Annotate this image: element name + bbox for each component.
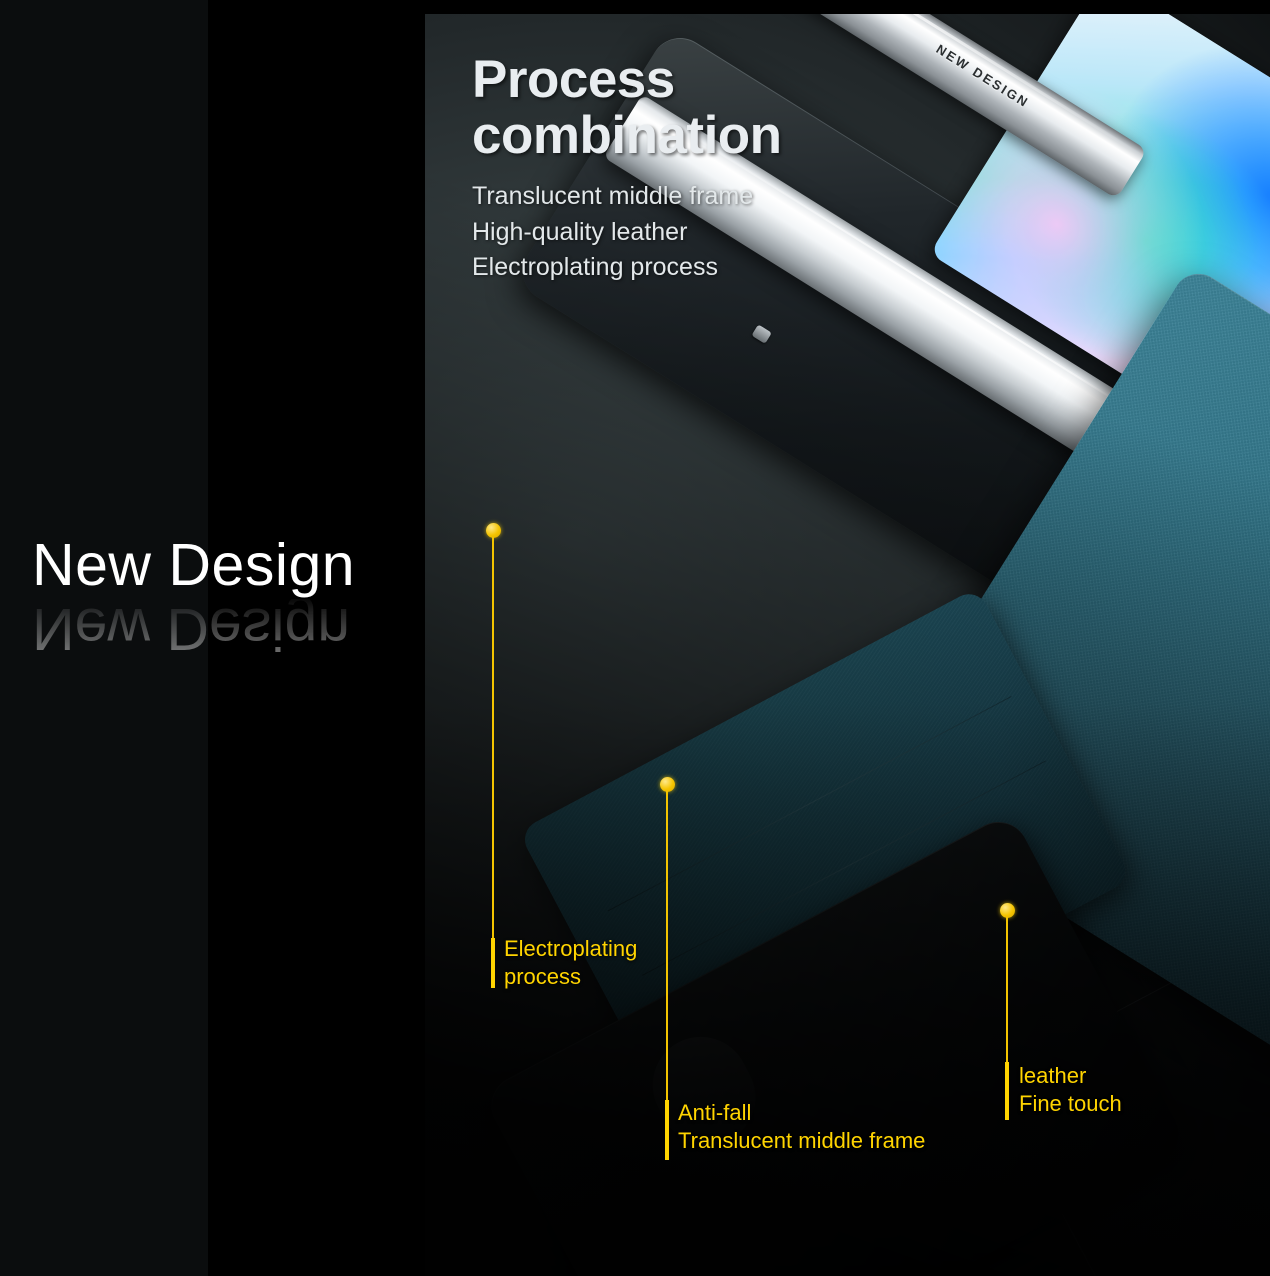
- engraved-label: NEW DESIGN: [933, 41, 1032, 110]
- subtitle-block: Translucent middle frame High-quality le…: [472, 179, 902, 286]
- callout-text: Anti-fall Translucent middle frame: [678, 1099, 925, 1155]
- callout-dot-icon: [486, 523, 501, 538]
- callout-leader-line: [1006, 917, 1008, 1063]
- callout-dot-icon: [1000, 903, 1015, 918]
- callout-text-line-1: leather: [1019, 1062, 1122, 1090]
- heading-line-1: Process: [472, 52, 902, 108]
- subtitle-line-1: Translucent middle frame: [472, 179, 902, 215]
- subtitle-line-3: Electroplating process: [472, 250, 902, 286]
- callout-leader-line: [666, 791, 668, 1111]
- callout-text-line-2: Translucent middle frame: [678, 1127, 925, 1155]
- callout-text-line-1: Electroplating: [504, 935, 637, 963]
- photo-top-border: [425, 0, 1270, 14]
- callout-dot-icon: [660, 777, 675, 792]
- brand-wordmark-block: New Design New Design: [32, 536, 432, 676]
- callout-tick-bar: [1005, 1062, 1009, 1120]
- subtitle-line-2: High-quality leather: [472, 215, 902, 251]
- brand-wordmark-reflection: New Design: [32, 599, 432, 658]
- callout-text: Electroplating process: [504, 935, 637, 991]
- product-banner: New Design New Design NEW DESIGN: [0, 0, 1270, 1276]
- callout-leader-line: [492, 537, 494, 945]
- callout-text-line-2: Fine touch: [1019, 1090, 1122, 1118]
- callout-tick-bar: [491, 938, 495, 988]
- heading-block: Process combination Translucent middle f…: [472, 52, 902, 286]
- heading-line-2: combination: [472, 108, 902, 164]
- callout-tick-bar: [665, 1100, 669, 1160]
- callout-text-line-1: Anti-fall: [678, 1099, 925, 1127]
- callout-text: leather Fine touch: [1019, 1062, 1122, 1118]
- product-photo: NEW DESIGN Process combination Transluce…: [425, 0, 1270, 1276]
- brand-wordmark: New Design: [32, 536, 432, 595]
- callout-text-line-2: process: [504, 963, 637, 991]
- phone-side-button: [751, 324, 771, 344]
